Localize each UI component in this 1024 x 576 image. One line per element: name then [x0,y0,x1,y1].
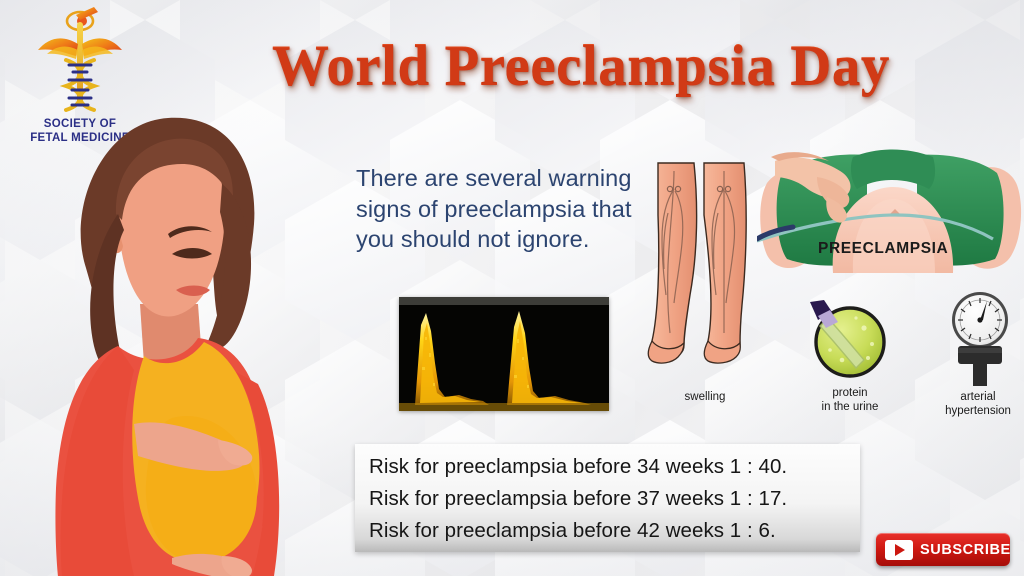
youtube-play-icon [885,540,913,560]
caption-arterial-hypertension: arterial hypertension [930,390,1024,419]
warning-text: There are several warning signs of preec… [356,163,646,255]
caption-protein-line2: in the urine [800,400,900,414]
subscribe-label: SUBSCRIBE [920,542,1011,558]
risk-line-37weeks: Risk for preeclampsia before 37 weeks 1 … [369,483,860,515]
blood-pressure-gauge-icon [940,288,1020,388]
preeclampsia-label: PREECLAMPSIA [818,240,948,258]
swollen-legs-icon [644,155,764,385]
risk-line-42weeks: Risk for preeclampsia before 42 weeks 1 … [369,515,860,547]
caption-hyper-line1: arterial [930,390,1024,404]
pregnant-woman-illustration [22,88,322,576]
caption-hyper-line2: hypertension [930,404,1024,418]
poster-canvas: SOCIETY OF FETAL MEDICINE [0,0,1024,576]
caption-protein-in-urine: protein in the urine [800,386,900,415]
caption-swelling: swelling [655,390,755,404]
caption-protein-line1: protein [800,386,900,400]
urine-sample-icon [806,298,890,382]
risk-statistics-box: Risk for preeclampsia before 34 weeks 1 … [355,444,860,552]
risk-line-34weeks: Risk for preeclampsia before 34 weeks 1 … [369,451,860,483]
subscribe-button[interactable]: SUBSCRIBE [876,533,1010,566]
doppler-ultrasound-image [399,297,609,411]
page-title: World Preeclampsia Day [272,33,972,98]
